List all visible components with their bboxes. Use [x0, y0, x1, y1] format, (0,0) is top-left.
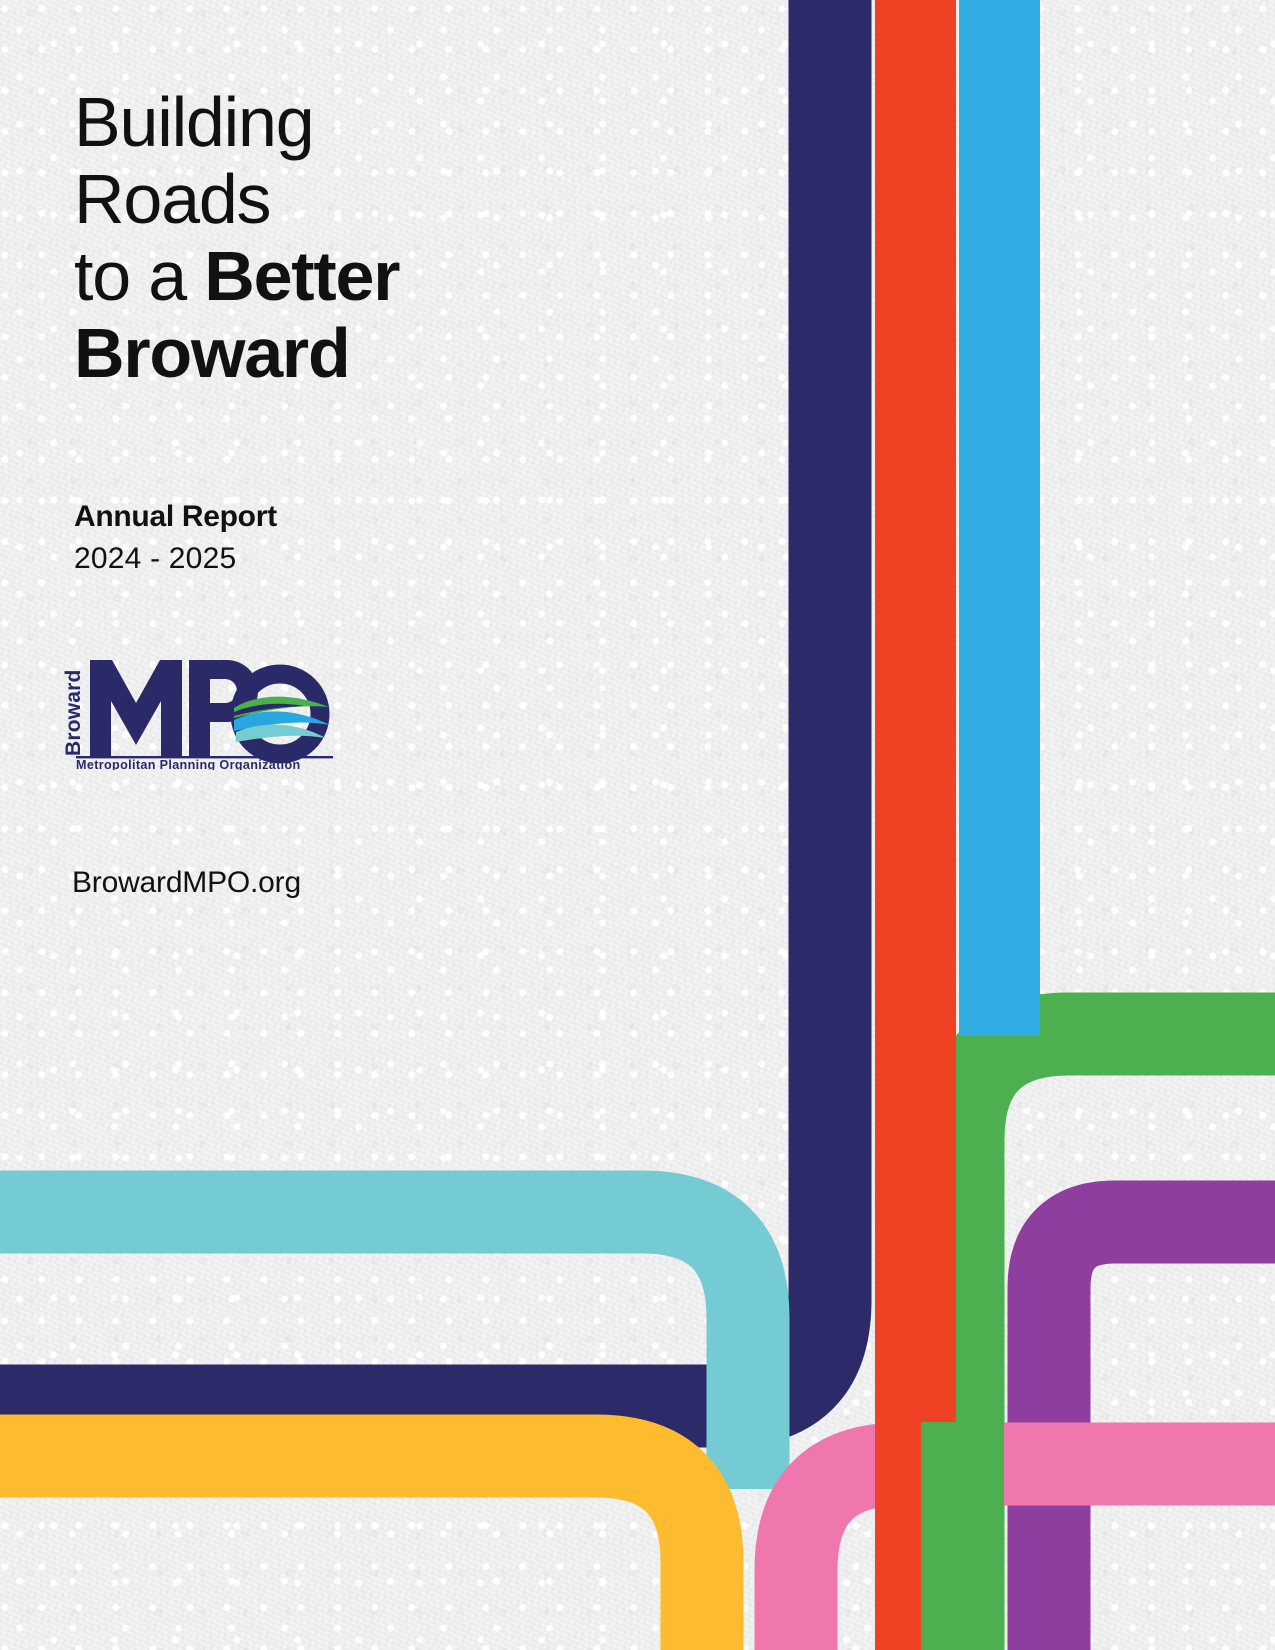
report-cover-page: Building Roads to a Better Broward Annua…: [0, 0, 1275, 1650]
cover-title: Building Roads to a Better Broward: [74, 84, 399, 392]
red-column-shape: [875, 0, 956, 1650]
yellow-elbow-path: [0, 1456, 702, 1650]
logo-tagline: Metropolitan Planning Organization: [76, 758, 301, 770]
logo-letter-m: [90, 660, 182, 758]
broward-mpo-logo: Broward Metropolitan Planning Organizati…: [58, 652, 333, 770]
title-line-4: Broward: [74, 315, 399, 392]
blue-column-shape: [959, 0, 1040, 1036]
title-line-3-light: to a: [74, 237, 204, 315]
website-url: BrowardMPO.org: [72, 866, 301, 900]
report-type-label: Annual Report: [74, 500, 277, 534]
title-line-1: Building: [74, 84, 399, 161]
cover-subtitle: Annual Report 2024 - 2025: [74, 500, 277, 576]
green-column-overlap: [921, 1422, 1004, 1650]
title-line-2: Roads: [74, 161, 399, 238]
report-years-label: 2024 - 2025: [74, 542, 277, 576]
title-line-3: to a Better: [74, 238, 399, 315]
title-line-3-bold: Better: [204, 237, 399, 315]
logo-vertical-word: Broward: [62, 669, 85, 756]
